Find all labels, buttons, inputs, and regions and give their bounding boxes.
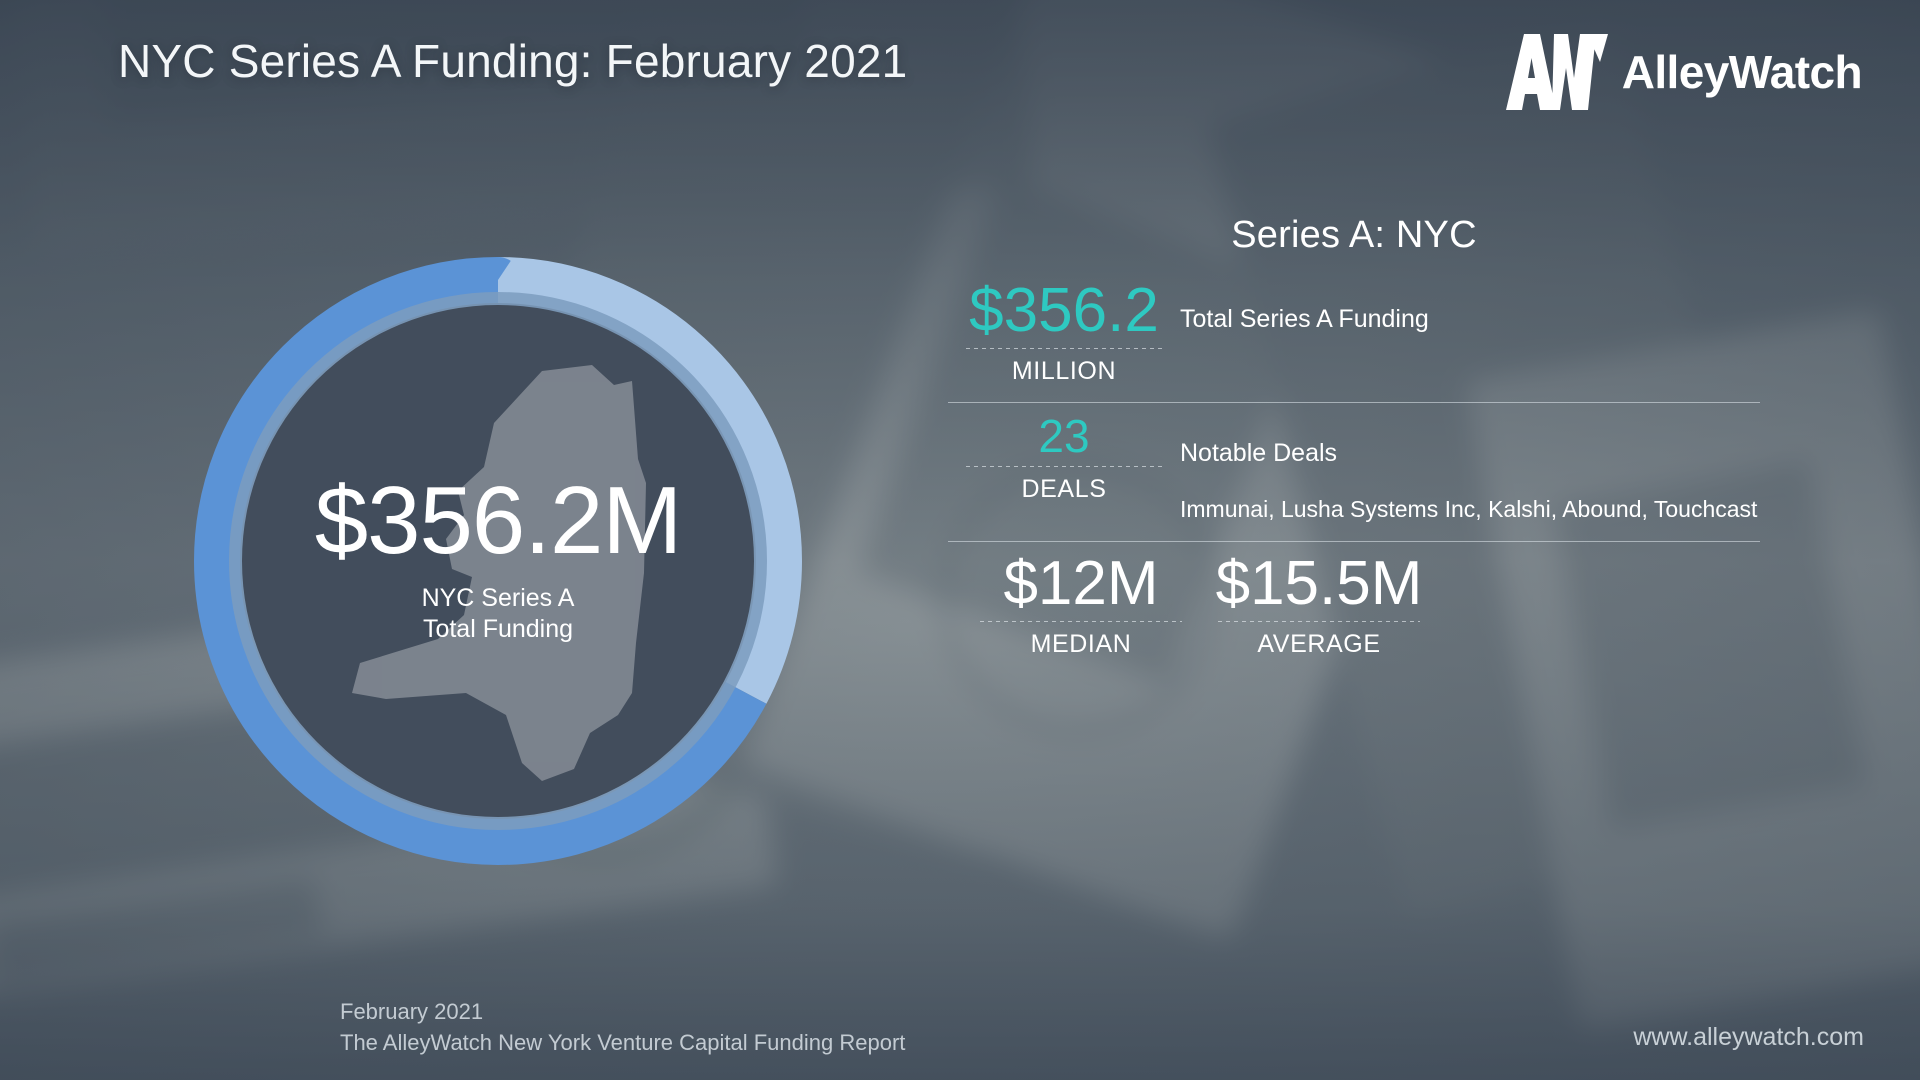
stat-median-value: $12M — [962, 552, 1200, 615]
stat-deals: 23 DEALS — [948, 413, 1180, 504]
stat-average: $15.5M AVERAGE — [1200, 552, 1438, 659]
stats-panel: Series A: NYC $356.2 MILLION Total Serie… — [948, 214, 1760, 659]
donut-total-value: $356.2M — [242, 473, 754, 569]
alleywatch-logo[interactable]: AlleyWatch — [1504, 34, 1862, 110]
footer-date: February 2021 — [340, 996, 905, 1027]
donut-center-text: $356.2M NYC Series A Total Funding — [242, 473, 754, 646]
stat-total-value: $356.2 — [948, 279, 1180, 342]
donut-sub-line-2: Total Funding — [242, 614, 754, 645]
donut-sub-line-1: NYC Series A — [242, 583, 754, 614]
footer-report-title: The AlleyWatch New York Venture Capital … — [340, 1027, 905, 1058]
section-divider-2 — [948, 541, 1760, 542]
stat-median-label: MEDIAN — [962, 630, 1200, 659]
stat-total: $356.2 MILLION — [948, 279, 1180, 386]
stat-average-label: AVERAGE — [1200, 630, 1438, 659]
aw-monogram-icon — [1504, 34, 1608, 110]
notable-deals-list: Immunai, Lusha Systems Inc, Kalshi, Abou… — [1180, 494, 1757, 525]
donut-chart: $356.2M NYC Series A Total Funding — [192, 255, 804, 867]
stat-deals-desc: Notable Deals Immunai, Lusha Systems Inc… — [1180, 413, 1757, 524]
stat-deals-label: Notable Deals — [1180, 437, 1757, 470]
dotted-divider — [966, 466, 1162, 467]
stat-total-label: Total Series A Funding — [1180, 303, 1429, 336]
stat-deals-value: 23 — [948, 413, 1180, 460]
footer: February 2021 The AlleyWatch New York Ve… — [340, 996, 905, 1058]
stat-total-unit: MILLION — [948, 357, 1180, 386]
stat-deals-unit: DEALS — [948, 475, 1180, 504]
panel-title: Series A: NYC — [948, 214, 1760, 257]
stat-median: $12M MEDIAN — [962, 552, 1200, 659]
website-url[interactable]: www.alleywatch.com — [1633, 1023, 1864, 1052]
logo-wordmark: AlleyWatch — [1622, 49, 1862, 95]
stat-average-value: $15.5M — [1200, 552, 1438, 615]
section-divider-1 — [948, 402, 1760, 403]
stat-row-total: $356.2 MILLION Total Series A Funding — [948, 279, 1760, 386]
infographic-canvas: NYC Series A Funding: February 2021 Alle… — [0, 0, 1920, 1080]
stat-row-deals: 23 DEALS Notable Deals Immunai, Lusha Sy… — [948, 413, 1760, 524]
donut-center: $356.2M NYC Series A Total Funding — [242, 305, 754, 817]
page-title: NYC Series A Funding: February 2021 — [118, 34, 907, 88]
stat-row-median-average: $12M MEDIAN $15.5M AVERAGE — [948, 552, 1760, 659]
dotted-divider — [980, 621, 1182, 622]
dotted-divider — [1218, 621, 1420, 622]
stat-total-desc: Total Series A Funding — [1180, 279, 1429, 336]
dotted-divider — [966, 348, 1162, 349]
